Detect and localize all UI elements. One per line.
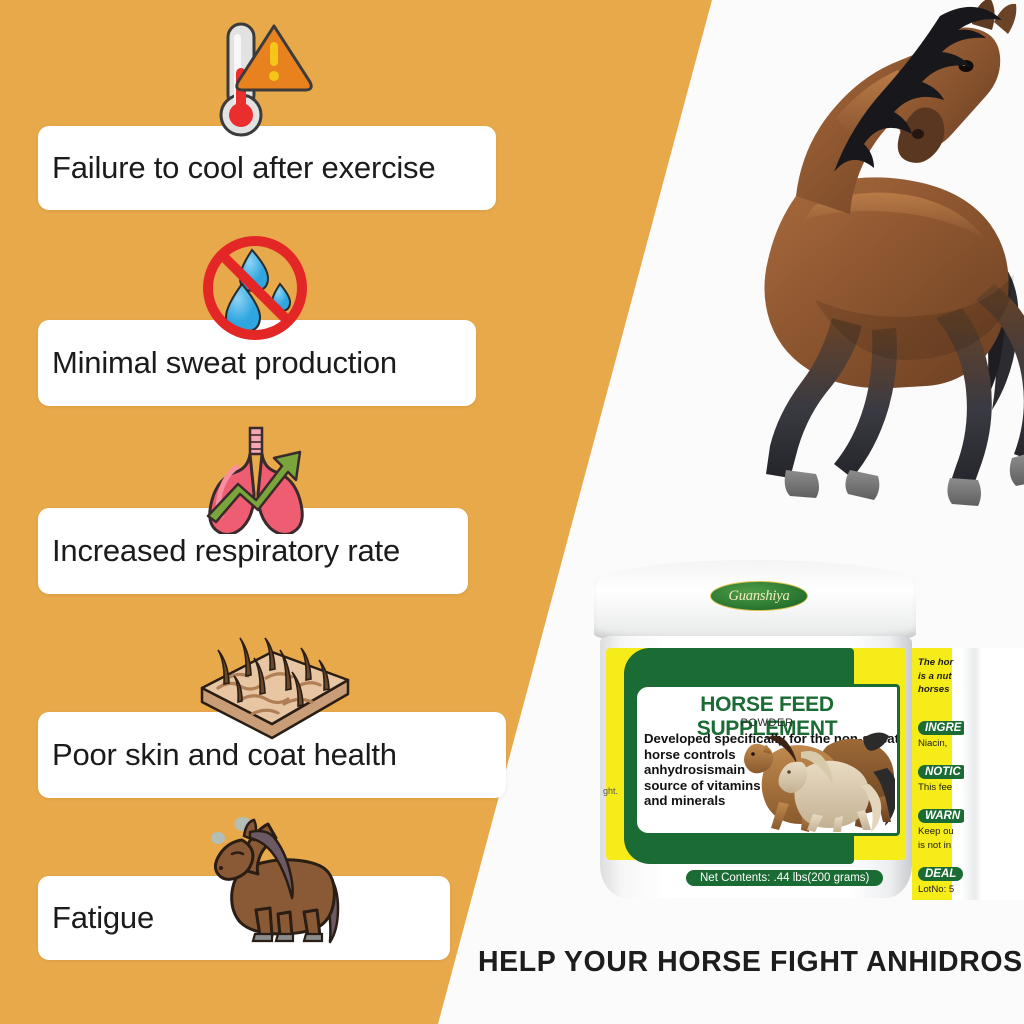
jar-side-partial-text: ght. [603,786,618,796]
back-intro-line-1: The hor [918,656,964,670]
symptom-label: Failure to cool after exercise [52,151,435,185]
back-section-notice: NOTIC This fee [918,762,964,794]
symptom-item-skin-coat[interactable]: Poor skin and coat health [38,712,506,798]
symptom-label: Poor skin and coat health [52,738,397,772]
running-horse-photo [600,0,1024,600]
back-body-ingredients: Niacin, [918,737,964,750]
label-content-area: HORSE FEED SUPPLEMENT POWDER Developed s… [634,684,900,836]
back-section-warning: WARN Keep ou is not in [918,806,964,853]
symptom-label: Fatigue [52,901,154,935]
back-intro-line-3: horses [918,683,964,697]
symptom-box[interactable]: Fatigue [38,876,450,960]
symptom-item-failure-to-cool[interactable]: Failure to cool after exercise [38,126,496,210]
symptom-box[interactable]: Failure to cool after exercise [38,126,496,210]
brand-logo-text: Guanshiya [728,588,789,605]
back-intro-block: The hor is a nut horses [918,656,964,697]
net-contents-badge: Net Contents: .44 lbs(200 grams) [686,870,883,886]
product-jar[interactable]: HORSE FEED SUPPLEMENT POWDER Developed s… [590,560,920,900]
back-heading-ingredients: INGRE [918,721,964,735]
symptom-box[interactable]: Increased respiratory rate [38,508,468,594]
brand-logo: Guanshiya [710,581,808,611]
back-heading-warning: WARN [918,809,964,823]
poster-root: Failure to cool after exercise [0,0,1024,1024]
back-body-warning-2: is not in [918,839,964,852]
back-label-visible-region: The hor is a nut horses INGRE Niacin, NO… [912,648,964,900]
symptom-box[interactable]: Poor skin and coat health [38,712,506,798]
symptom-label: Minimal sweat production [52,346,397,380]
back-body-lot-number: LotNo: 5 [918,883,964,896]
symptom-label: Increased respiratory rate [52,534,400,568]
back-section-dealer: DEAL LotNo: 5 [918,864,964,896]
back-intro-line-2: is a nut [918,670,964,684]
back-body-warning-1: Keep ou [918,825,964,838]
symptom-item-respiratory-rate[interactable]: Increased respiratory rate [38,508,468,594]
back-section-ingredients: INGRE Niacin, [918,718,964,750]
symptom-item-minimal-sweat[interactable]: Minimal sweat production [38,320,476,406]
jar-body: HORSE FEED SUPPLEMENT POWDER Developed s… [600,636,912,898]
label-running-horses-art [735,728,895,832]
page-headline: HELP YOUR HORSE FIGHT ANHIDROSIS [478,946,1018,979]
symptom-list: Failure to cool after exercise [0,0,520,1024]
symptom-box[interactable]: Minimal sweat production [38,320,476,406]
back-heading-notice: NOTIC [918,765,964,779]
symptom-item-fatigue[interactable]: Fatigue [38,876,450,960]
back-heading-dealer: DEAL [918,867,963,881]
product-back-label: The hor is a nut horses INGRE Niacin, NO… [912,648,1024,900]
back-body-notice: This fee [918,781,964,794]
thermometer-warning-icon [198,10,318,140]
